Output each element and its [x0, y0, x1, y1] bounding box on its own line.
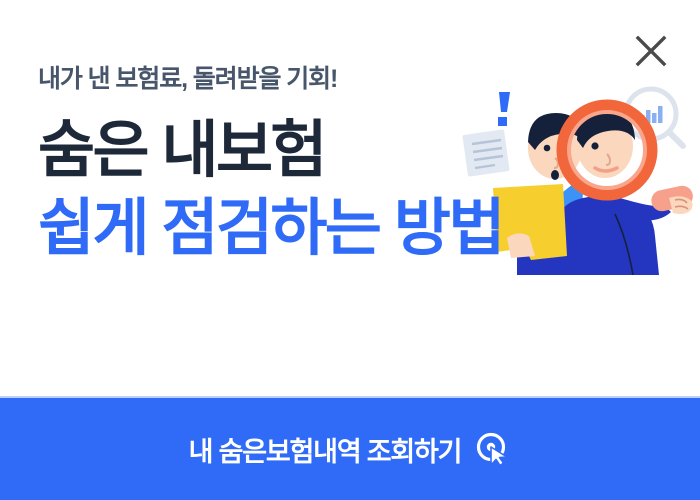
subtitle-text: 내가 낸 보험료, 돌려받을 기회! [38, 64, 503, 94]
close-button[interactable] [630, 30, 672, 72]
yellow-folder-icon [493, 184, 567, 260]
cta-label: 내 숨은보험내역 조회하기 [189, 430, 462, 469]
promo-banner: 내가 낸 보험료, 돌려받을 기회! 숨은 내보험 쉽게 점검하는 방법 내 숨… [0, 0, 700, 500]
close-x-icon [630, 30, 672, 72]
cta-button[interactable]: 내 숨은보험내역 조회하기 [0, 398, 700, 500]
copy-block: 내가 낸 보험료, 돌려받을 기회! 숨은 내보험 쉽게 점검하는 방법 [38, 64, 503, 260]
search-cursor-icon [475, 431, 511, 467]
headline-line-2: 쉽게 점검하는 방법 [38, 198, 503, 260]
headline-line-1: 숨은 내보험 [38, 120, 503, 182]
